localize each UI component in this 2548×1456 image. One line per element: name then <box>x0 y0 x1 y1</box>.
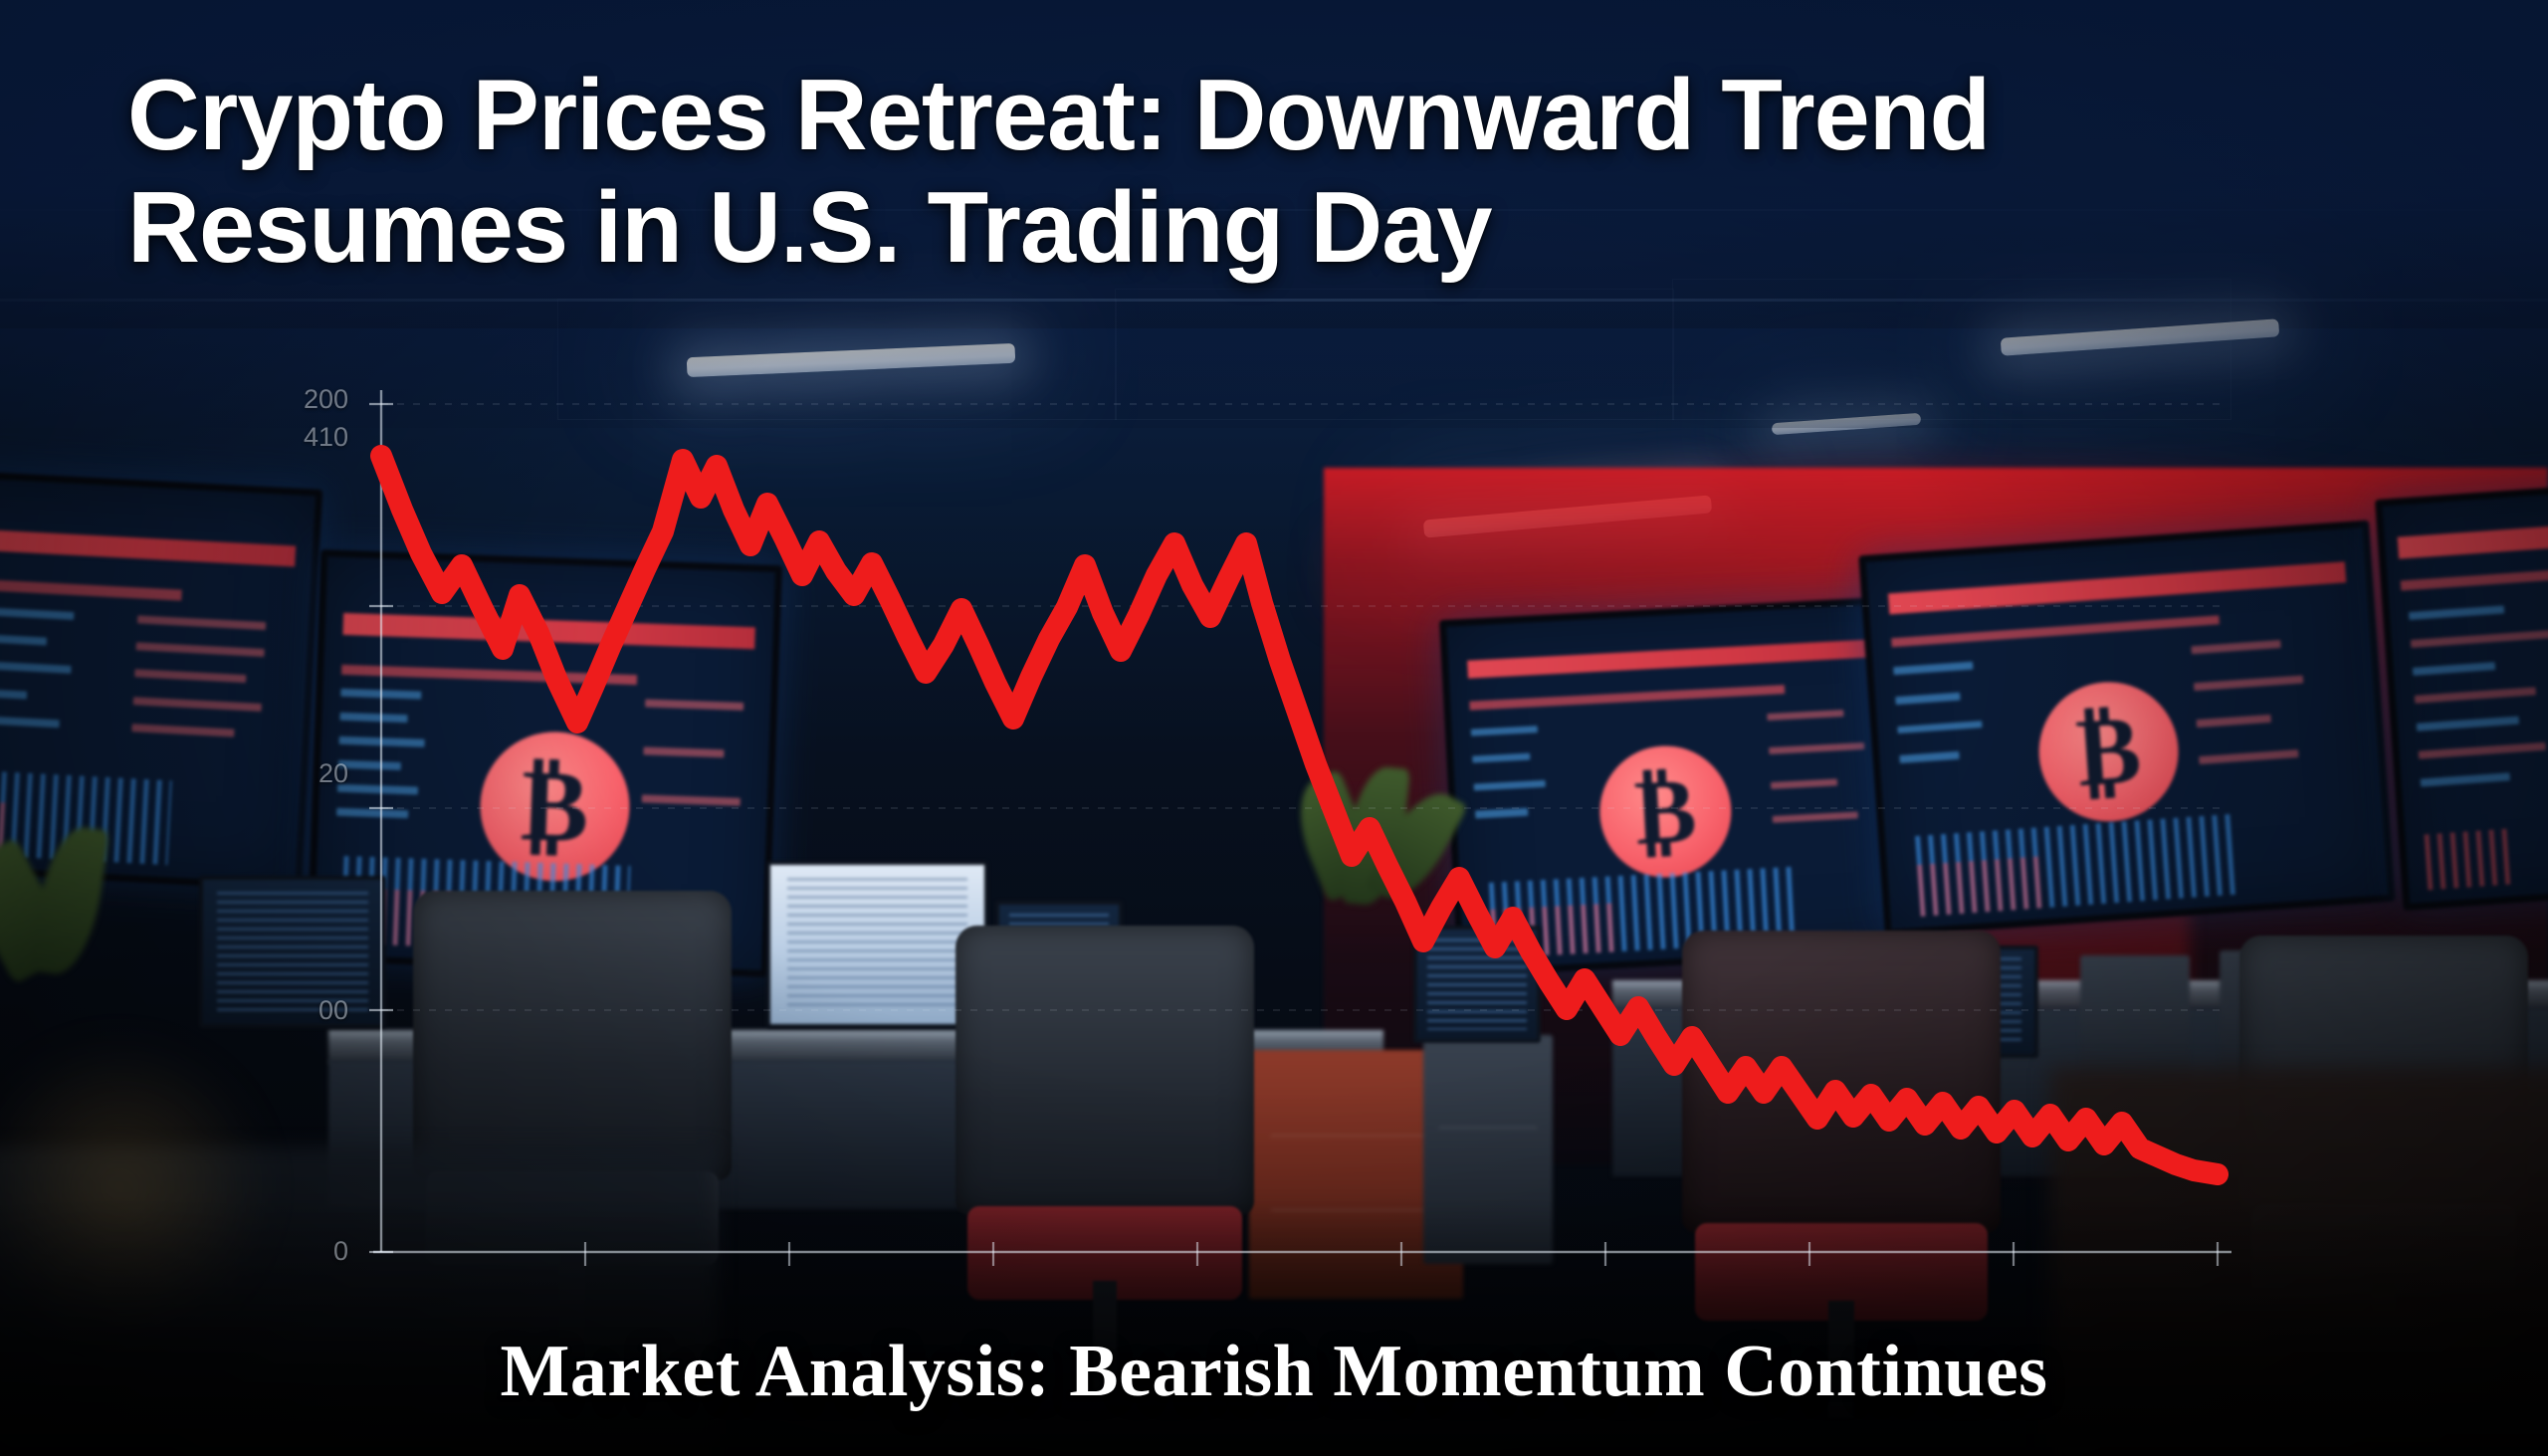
headline-title: Crypto Prices Retreat: Downward Trend Re… <box>127 60 2446 285</box>
news-graphic-canvas: ₿ ₿ <box>0 0 2548 1456</box>
chart-ytick-label: 410 <box>229 422 348 453</box>
chart-ytick-label: 200 <box>229 384 348 415</box>
chart-ytick-label: 0 <box>229 1236 348 1267</box>
chart-ytick-label: 20 <box>229 758 348 789</box>
bottom-scrim-overlay <box>0 1197 2548 1456</box>
caption-text: Market Analysis: Bearish Momentum Contin… <box>0 1330 2548 1414</box>
chart-ytick-label: 00 <box>229 995 348 1026</box>
